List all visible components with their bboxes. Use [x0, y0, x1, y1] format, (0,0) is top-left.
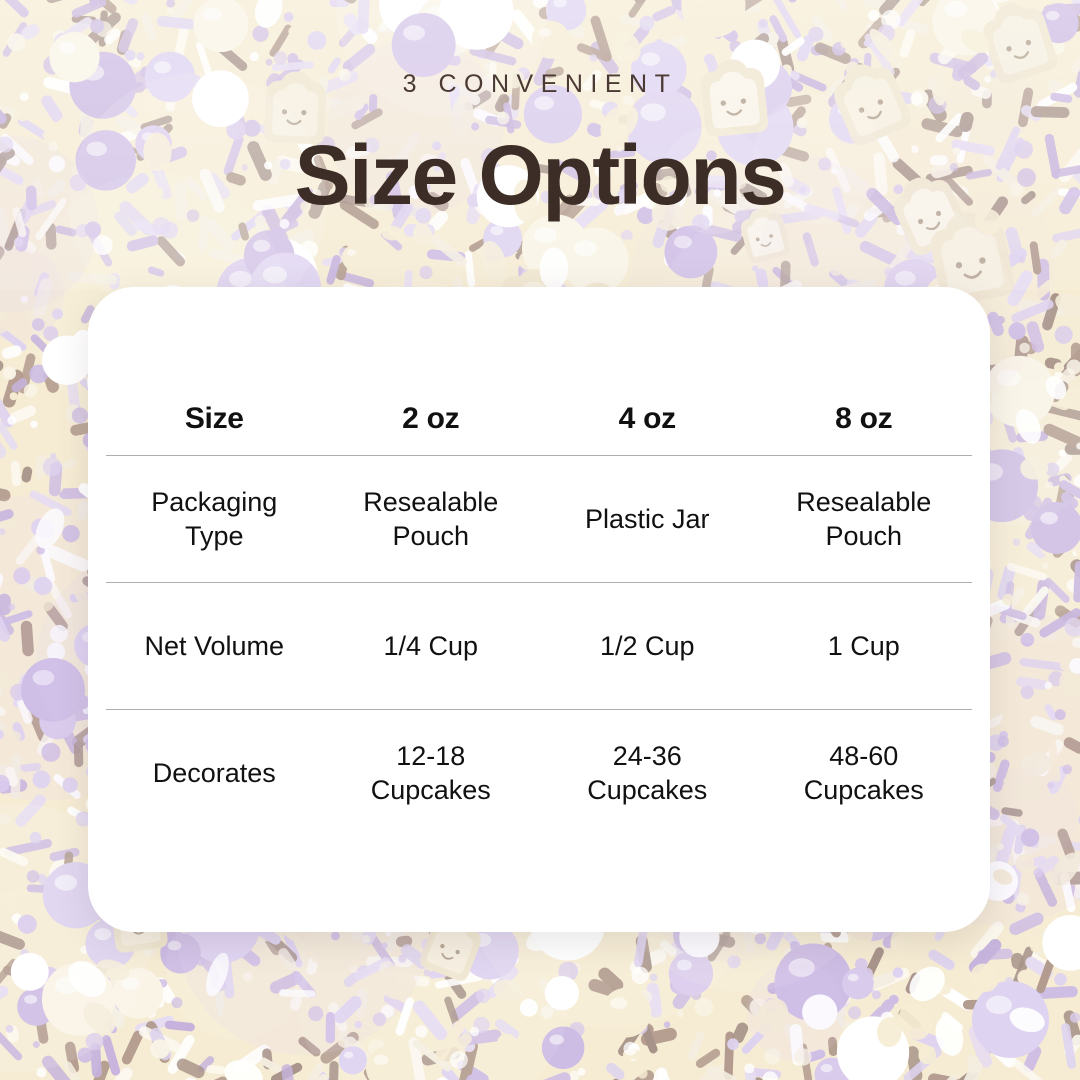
cell-packaging-type-8oz: Resealable Pouch: [756, 485, 973, 553]
size-options-card: Size 2 oz 4 oz 8 oz Packaging Type Resea…: [88, 287, 990, 932]
cell-decorates-8oz: 48-60 Cupcakes: [756, 739, 973, 807]
cell-decorates-4oz: 24-36 Cupcakes: [539, 739, 756, 807]
row-label-net-volume: Net Volume: [106, 629, 323, 663]
infographic-canvas: 3 CONVENIENT Size Options Size 2 oz 4 oz…: [0, 0, 1080, 1080]
eyebrow-text: 3 CONVENIENT: [0, 70, 1080, 99]
column-header-size: Size: [106, 402, 323, 436]
size-comparison-table: Size 2 oz 4 oz 8 oz Packaging Type Resea…: [106, 383, 972, 836]
cell-packaging-type-2oz: Resealable Pouch: [323, 485, 540, 553]
row-label-packaging-type: Packaging Type: [106, 485, 323, 553]
row-label-decorates: Decorates: [106, 756, 323, 790]
table-row: Packaging Type Resealable Pouch Plastic …: [106, 456, 972, 582]
column-header-4oz: 4 oz: [539, 402, 756, 436]
page-title: Size Options: [0, 127, 1080, 224]
cell-net-volume-4oz: 1/2 Cup: [539, 629, 756, 663]
cell-net-volume-8oz: 1 Cup: [756, 629, 973, 663]
column-header-2oz: 2 oz: [323, 402, 540, 436]
cell-packaging-type-4oz: Plastic Jar: [539, 502, 756, 536]
table-row: Net Volume 1/4 Cup 1/2 Cup 1 Cup: [106, 583, 972, 709]
cell-net-volume-2oz: 1/4 Cup: [323, 629, 540, 663]
cell-decorates-2oz: 12-18 Cupcakes: [323, 739, 540, 807]
table-row: Decorates 12-18 Cupcakes 24-36 Cupcakes …: [106, 710, 972, 836]
column-header-8oz: 8 oz: [756, 402, 973, 436]
table-header-row: Size 2 oz 4 oz 8 oz: [106, 383, 972, 455]
